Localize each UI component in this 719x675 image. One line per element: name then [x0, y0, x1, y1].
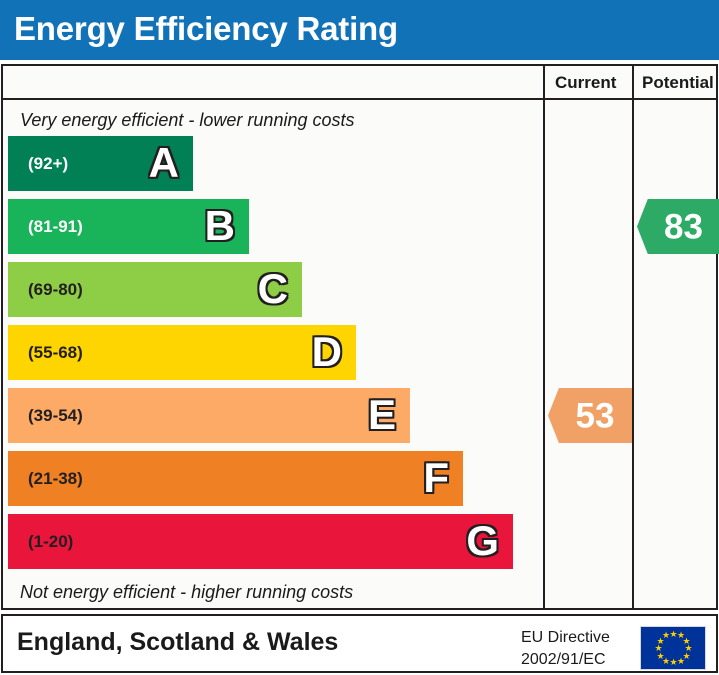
band-letter-d: D — [312, 331, 342, 373]
band-letter-b: B — [205, 205, 235, 247]
column-header-potential: Potential — [642, 73, 714, 93]
potential-rating-value: 83 — [637, 209, 719, 244]
band-letter-f: F — [423, 457, 449, 499]
band-range-f: (21-38) — [28, 469, 83, 489]
band-range-a: (92+) — [28, 154, 68, 174]
band-row-d: (55-68) D — [8, 325, 356, 380]
energy-efficiency-rating-certificate: Energy Efficiency Rating Current Potenti… — [0, 0, 719, 675]
band-row-a: (92+) A — [8, 136, 193, 191]
band-row-e: (39-54) E — [8, 388, 410, 443]
potential-rating-marker: 83 — [637, 199, 719, 254]
footer-directive: EU Directive 2002/91/EC — [521, 627, 610, 670]
band-row-b: (81-91) B — [8, 199, 249, 254]
page-title: Energy Efficiency Rating — [14, 10, 398, 48]
band-letter-e: E — [368, 394, 396, 436]
footer-directive-line1: EU Directive — [521, 627, 610, 649]
column-divider-potential — [632, 66, 634, 608]
eu-flag-icon — [640, 626, 706, 670]
band-letter-g: G — [466, 520, 499, 562]
band-row-g: (1-20) G — [8, 514, 513, 569]
band-row-f: (21-38) F — [8, 451, 463, 506]
current-rating-marker: 53 — [548, 388, 632, 443]
band-range-d: (55-68) — [28, 343, 83, 363]
rating-table: Current Potential Very energy efficient … — [1, 64, 718, 610]
footer-bar: England, Scotland & Wales EU Directive 2… — [1, 614, 718, 673]
band-bars: (92+) A (81-91) B (69-80) C (55-68) D (3… — [3, 66, 543, 608]
band-range-e: (39-54) — [28, 406, 83, 426]
band-range-c: (69-80) — [28, 280, 83, 300]
footer-directive-line2: 2002/91/EC — [521, 649, 610, 671]
column-header-current: Current — [555, 73, 616, 93]
footer-region-label: England, Scotland & Wales — [17, 628, 338, 657]
current-rating-value: 53 — [548, 398, 632, 433]
band-range-g: (1-20) — [28, 532, 73, 552]
band-row-c: (69-80) C — [8, 262, 302, 317]
title-bar: Energy Efficiency Rating — [0, 0, 719, 60]
band-range-b: (81-91) — [28, 217, 83, 237]
band-letter-a: A — [149, 142, 179, 184]
band-letter-c: C — [258, 268, 288, 310]
column-divider-current — [543, 66, 545, 608]
